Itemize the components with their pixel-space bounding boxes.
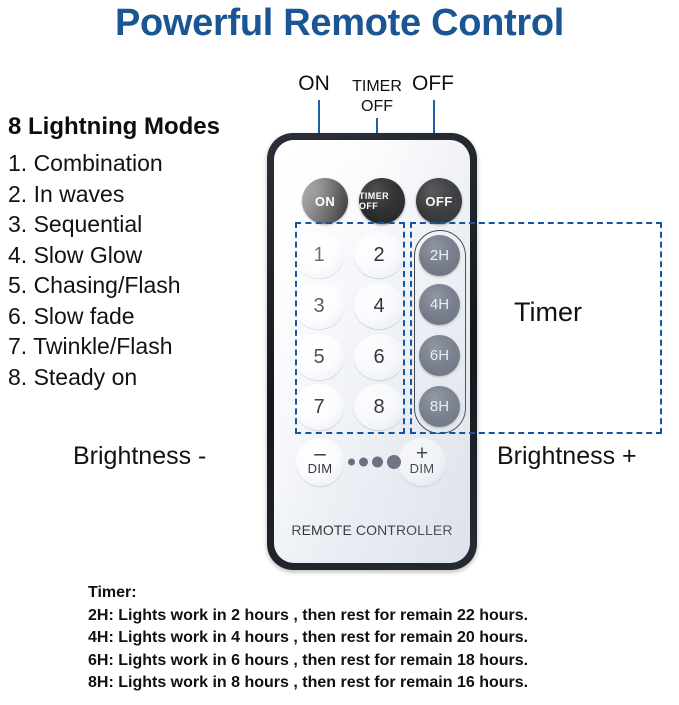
annotation-label-brightness-plus: Brightness +: [497, 442, 637, 471]
footer-line: 8H: Lights work in 8 hours , then rest f…: [88, 672, 648, 695]
infographic-page: Powerful Remote Control 8 Lightning Mode…: [0, 0, 679, 705]
dim-up-label: DIM: [410, 461, 435, 477]
footer-line: 6H: Lights work in 6 hours , then rest f…: [88, 650, 648, 673]
list-item: 2. In waves: [8, 179, 258, 210]
brightness-dot-4: [387, 455, 401, 469]
footer-timer-description: Timer: 2H: Lights work in 2 hours , then…: [88, 582, 648, 695]
list-item: 8. Steady on: [8, 362, 258, 393]
remote-button-dim-down[interactable]: – DIM: [296, 438, 344, 486]
remote-button-timer-off[interactable]: TIMER OFF: [359, 178, 405, 224]
list-item: 5. Chasing/Flash: [8, 270, 258, 301]
brightness-dot-3: [372, 457, 383, 468]
brightness-dot-1: [348, 459, 355, 466]
annotation-label-timer: Timer: [448, 297, 648, 328]
brightness-dot-2: [359, 458, 368, 467]
brightness-level-dots: [348, 452, 400, 472]
minus-icon: –: [314, 447, 326, 461]
callout-timer-off-line2: OFF: [341, 97, 413, 117]
remote-brand-text: REMOTE CONTROLLER: [274, 522, 470, 538]
callout-label-off: OFF: [404, 72, 462, 96]
footer-line: 2H: Lights work in 2 hours , then rest f…: [88, 605, 648, 628]
footer-heading: Timer:: [88, 582, 648, 605]
remote-button-dim-up[interactable]: + DIM: [398, 438, 446, 486]
page-title: Powerful Remote Control: [0, 2, 679, 45]
plus-icon: +: [416, 447, 428, 461]
dim-down-label: DIM: [308, 461, 333, 477]
annotation-box-timer: [410, 222, 662, 434]
annotation-box-modes: [295, 222, 405, 434]
modes-list: 1. Combination 2. In waves 3. Sequential…: [8, 148, 258, 392]
footer-line: 4H: Lights work in 4 hours , then rest f…: [88, 627, 648, 650]
callout-label-on: ON: [286, 72, 342, 96]
list-item: 4. Slow Glow: [8, 240, 258, 271]
modes-heading: 8 Lightning Modes: [8, 113, 220, 141]
list-item: 6. Slow fade: [8, 301, 258, 332]
remote-button-off[interactable]: OFF: [416, 178, 462, 224]
list-item: 7. Twinkle/Flash: [8, 331, 258, 362]
list-item: 3. Sequential: [8, 209, 258, 240]
callout-timer-off-line1: TIMER: [341, 77, 413, 97]
annotation-label-brightness-minus: Brightness -: [73, 442, 206, 471]
callout-label-timer-off: TIMER OFF: [341, 77, 413, 117]
list-item: 1. Combination: [8, 148, 258, 179]
remote-button-on[interactable]: ON: [302, 178, 348, 224]
